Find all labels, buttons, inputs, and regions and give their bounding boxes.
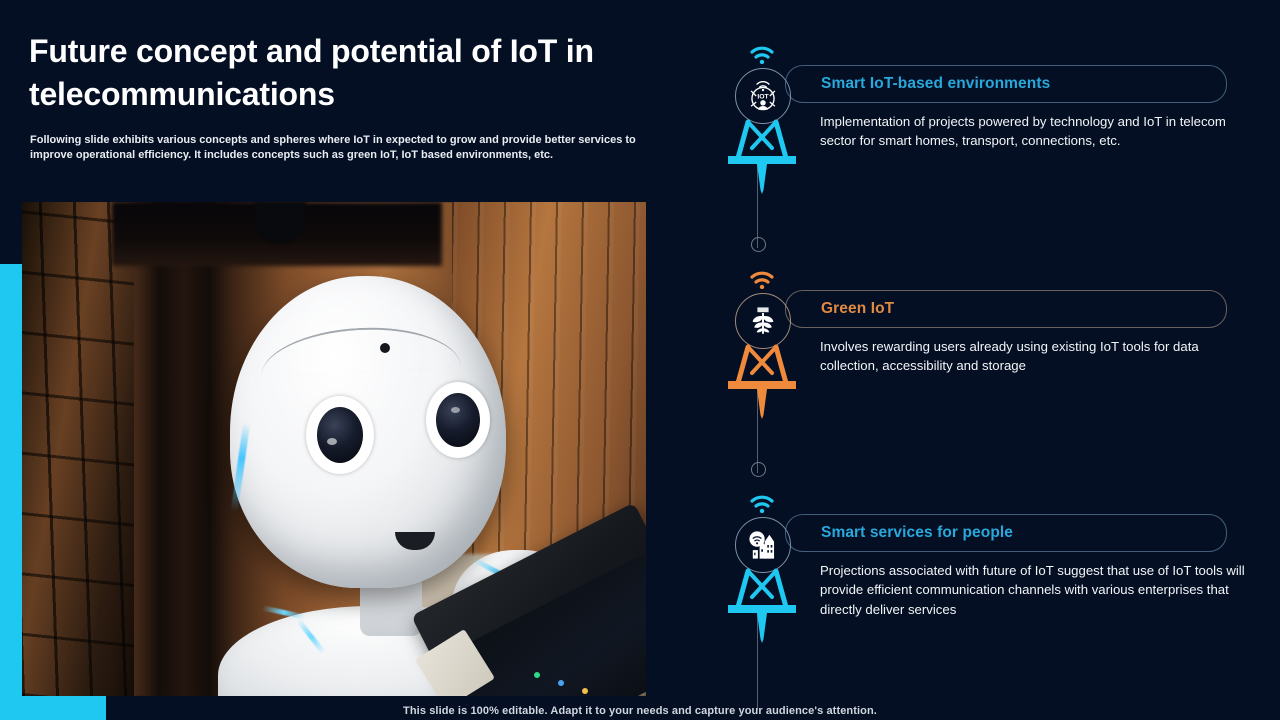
robot-eye-glint-right: [451, 407, 460, 413]
iot-concept-list: IOT Smart IoT-base: [700, 0, 1280, 720]
icon-column-3: [720, 487, 800, 662]
concept-title-3: Smart services for people: [786, 524, 1013, 542]
concept-icon-circle-2: [735, 293, 791, 349]
iot-person-antenna-icon: IOT: [746, 79, 780, 113]
robot-photo: [22, 202, 646, 696]
robot-eye-left: [317, 407, 363, 463]
plant-leaf-icon: [747, 305, 779, 337]
robot-forehead-camera: [380, 343, 390, 353]
cell-tower-icon: [726, 118, 798, 196]
concept-title-pill-3[interactable]: Smart services for people: [785, 514, 1227, 552]
screen-dot-3: [582, 688, 588, 694]
concept-title-2: Green IoT: [786, 300, 894, 318]
concept-description-2: Involves rewarding users already using e…: [820, 337, 1250, 376]
concept-title-pill-1[interactable]: Smart IoT-based environments: [785, 65, 1227, 103]
slide-root: Future concept and potential of IoT in t…: [0, 0, 1280, 720]
screen-dot-1: [534, 672, 540, 678]
page-title: Future concept and potential of IoT in t…: [29, 30, 669, 116]
accent-bar-vertical: [0, 264, 22, 696]
page-subtitle: Following slide exhibits various concept…: [30, 133, 655, 163]
brick-wall: [22, 202, 134, 696]
concept-title-pill-2[interactable]: Green IoT: [785, 290, 1227, 328]
connector-node-2: [751, 462, 766, 477]
concept-icon-circle-3: [735, 517, 791, 573]
svg-text:IOT: IOT: [757, 94, 769, 101]
robot-eye-glint-left: [327, 438, 337, 445]
smart-city-wifi-icon: [746, 528, 780, 562]
cell-tower-icon: [726, 343, 798, 421]
slide-footer-note: This slide is 100% editable. Adapt it to…: [0, 705, 1280, 717]
wifi-signal-icon: [750, 46, 774, 64]
concept-title-1: Smart IoT-based environments: [786, 75, 1050, 93]
screen-dot-2: [558, 680, 564, 686]
wifi-signal-icon: [750, 271, 774, 289]
cell-tower-icon: [726, 567, 798, 645]
wifi-signal-icon: [750, 495, 774, 513]
concept-description-1: Implementation of projects powered by te…: [820, 112, 1250, 151]
concept-description-3: Projections associated with future of Io…: [820, 561, 1250, 619]
icon-column-1: IOT: [720, 38, 800, 213]
connector-node-1: [751, 237, 766, 252]
icon-column-2: [720, 263, 800, 438]
concept-icon-circle-1: IOT: [735, 68, 791, 124]
robot-eye-right: [436, 393, 480, 447]
